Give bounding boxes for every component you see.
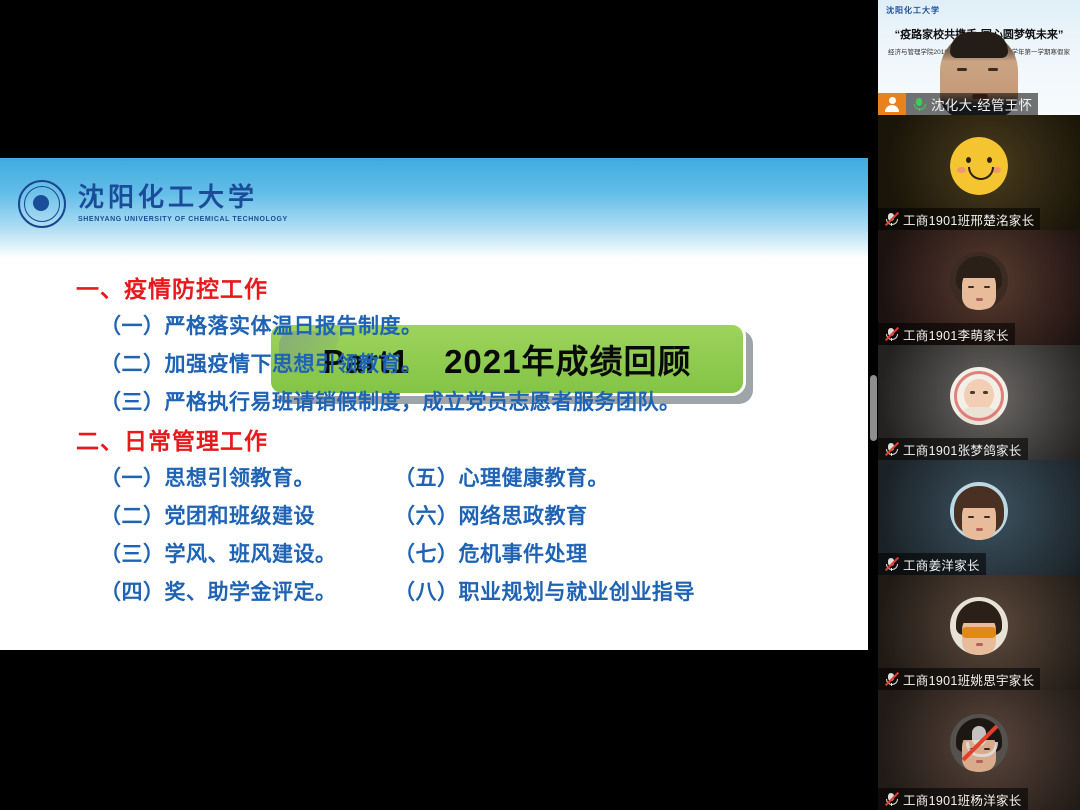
participant-namebar: 工商1901张梦鸽家长 [878, 438, 1028, 460]
participant-name: 工商1901李萌家长 [903, 325, 1009, 344]
mic-muted-overlay-icon [958, 722, 1000, 764]
participant-rail[interactable]: 沈阳化工大学 “疫路家校共携手·同心圆梦筑未来” 经济与管理学院2019级工商管… [878, 0, 1080, 810]
mic-muted-icon [884, 442, 898, 456]
mic-on-icon [912, 97, 926, 111]
meeting-window: 录制中 沈阳化工大学 SHENYANG UNIVERSITY OF CHEMIC… [0, 0, 1080, 810]
sunglasses-icon [962, 627, 996, 638]
participant-tile[interactable]: 工商1901班杨洋家长 [878, 690, 1080, 810]
avatar [950, 137, 1008, 195]
participant-namebar: 工商1901班杨洋家长 [878, 788, 1028, 810]
presentation-slide: 沈阳化工大学 SHENYANG UNIVERSITY OF CHEMICAL T… [0, 158, 868, 650]
mic-muted-icon [884, 212, 898, 226]
participant-tile[interactable]: 工商姜洋家长 [878, 460, 1080, 575]
section-2-right-item-4: （八）职业规划与就业创业指导 [394, 576, 695, 606]
participant-name: 工商1901张梦鸽家长 [903, 440, 1022, 459]
participant-namebar: 沈化大-经管王怀 [906, 93, 1038, 115]
participant-namebar: 工商1901班姚思宇家长 [878, 668, 1040, 690]
avatar [950, 597, 1008, 655]
participant-name: 沈化大-经管王怀 [931, 94, 1032, 114]
section-1-item-3: （三）严格执行易班请销假制度，成立党员志愿者服务团队。 [100, 386, 681, 416]
avatar [950, 367, 1008, 425]
person-icon [878, 93, 906, 115]
mic-muted-icon [884, 672, 898, 686]
participant-tile[interactable]: 工商1901班姚思宇家长 [878, 575, 1080, 690]
university-name-cn: 沈阳化工大学 [78, 185, 288, 212]
mic-muted-icon [884, 327, 898, 341]
participant-tile[interactable]: 工商1901班邢楚洺家长 [878, 115, 1080, 230]
section-1-heading: 一、疫情防控工作 [76, 270, 268, 304]
section-1-item-2: （二）加强疫情下思想引领教育。 [100, 348, 423, 378]
participant-scrollbar-thumb[interactable] [870, 375, 877, 441]
section-2-right-item-2: （六）网络思政教育 [394, 500, 588, 530]
section-2-right-item-1: （五）心理健康教育。 [394, 462, 609, 492]
section-2-left-item-4: （四）奖、助学金评定。 [100, 576, 337, 606]
participant-name: 工商姜洋家长 [903, 555, 980, 574]
participant-tile[interactable]: 工商1901李萌家长 [878, 230, 1080, 345]
participant-name: 工商1901班杨洋家长 [903, 790, 1022, 809]
mic-muted-icon [884, 792, 898, 806]
avatar [950, 252, 1008, 310]
participant-namebar: 工商姜洋家长 [878, 553, 986, 575]
participant-namebar: 工商1901班邢楚洺家长 [878, 208, 1040, 230]
section-2-heading: 二、日常管理工作 [76, 422, 268, 456]
section-2-left-item-1: （一）思想引领教育。 [100, 462, 315, 492]
university-seal-icon [18, 180, 66, 228]
section-2-left-item-3: （三）学风、班风建设。 [100, 538, 337, 568]
section-1-item-1: （一）严格落实体温日报告制度。 [100, 310, 423, 340]
participant-name: 工商1901班姚思宇家长 [903, 670, 1034, 689]
mic-muted-icon [884, 557, 898, 571]
university-logo: 沈阳化工大学 SHENYANG UNIVERSITY OF CHEMICAL T… [18, 180, 288, 228]
participant-namebar: 工商1901李萌家长 [878, 323, 1015, 345]
university-name-en: SHENYANG UNIVERSITY OF CHEMICAL TECHNOLO… [78, 216, 288, 223]
section-2-left-item-2: （二）党团和班级建设 [100, 500, 315, 530]
participant-name: 工商1901班邢楚洺家长 [903, 210, 1034, 229]
participant-tile[interactable]: 沈阳化工大学 “疫路家校共携手·同心圆梦筑未来” 经济与管理学院2019级工商管… [878, 0, 1080, 115]
section-2-right-item-3: （七）危机事件处理 [394, 538, 588, 568]
avatar [950, 482, 1008, 540]
participant-tile[interactable]: 工商1901张梦鸽家长 [878, 345, 1080, 460]
shared-screen-stage[interactable]: 沈阳化工大学 SHENYANG UNIVERSITY OF CHEMICAL T… [0, 0, 878, 810]
thumb-university-logo: 沈阳化工大学 [886, 5, 940, 16]
slide-body: 一、疫情防控工作 （一）严格落实体温日报告制度。 （二）加强疫情下思想引领教育。… [0, 258, 868, 650]
